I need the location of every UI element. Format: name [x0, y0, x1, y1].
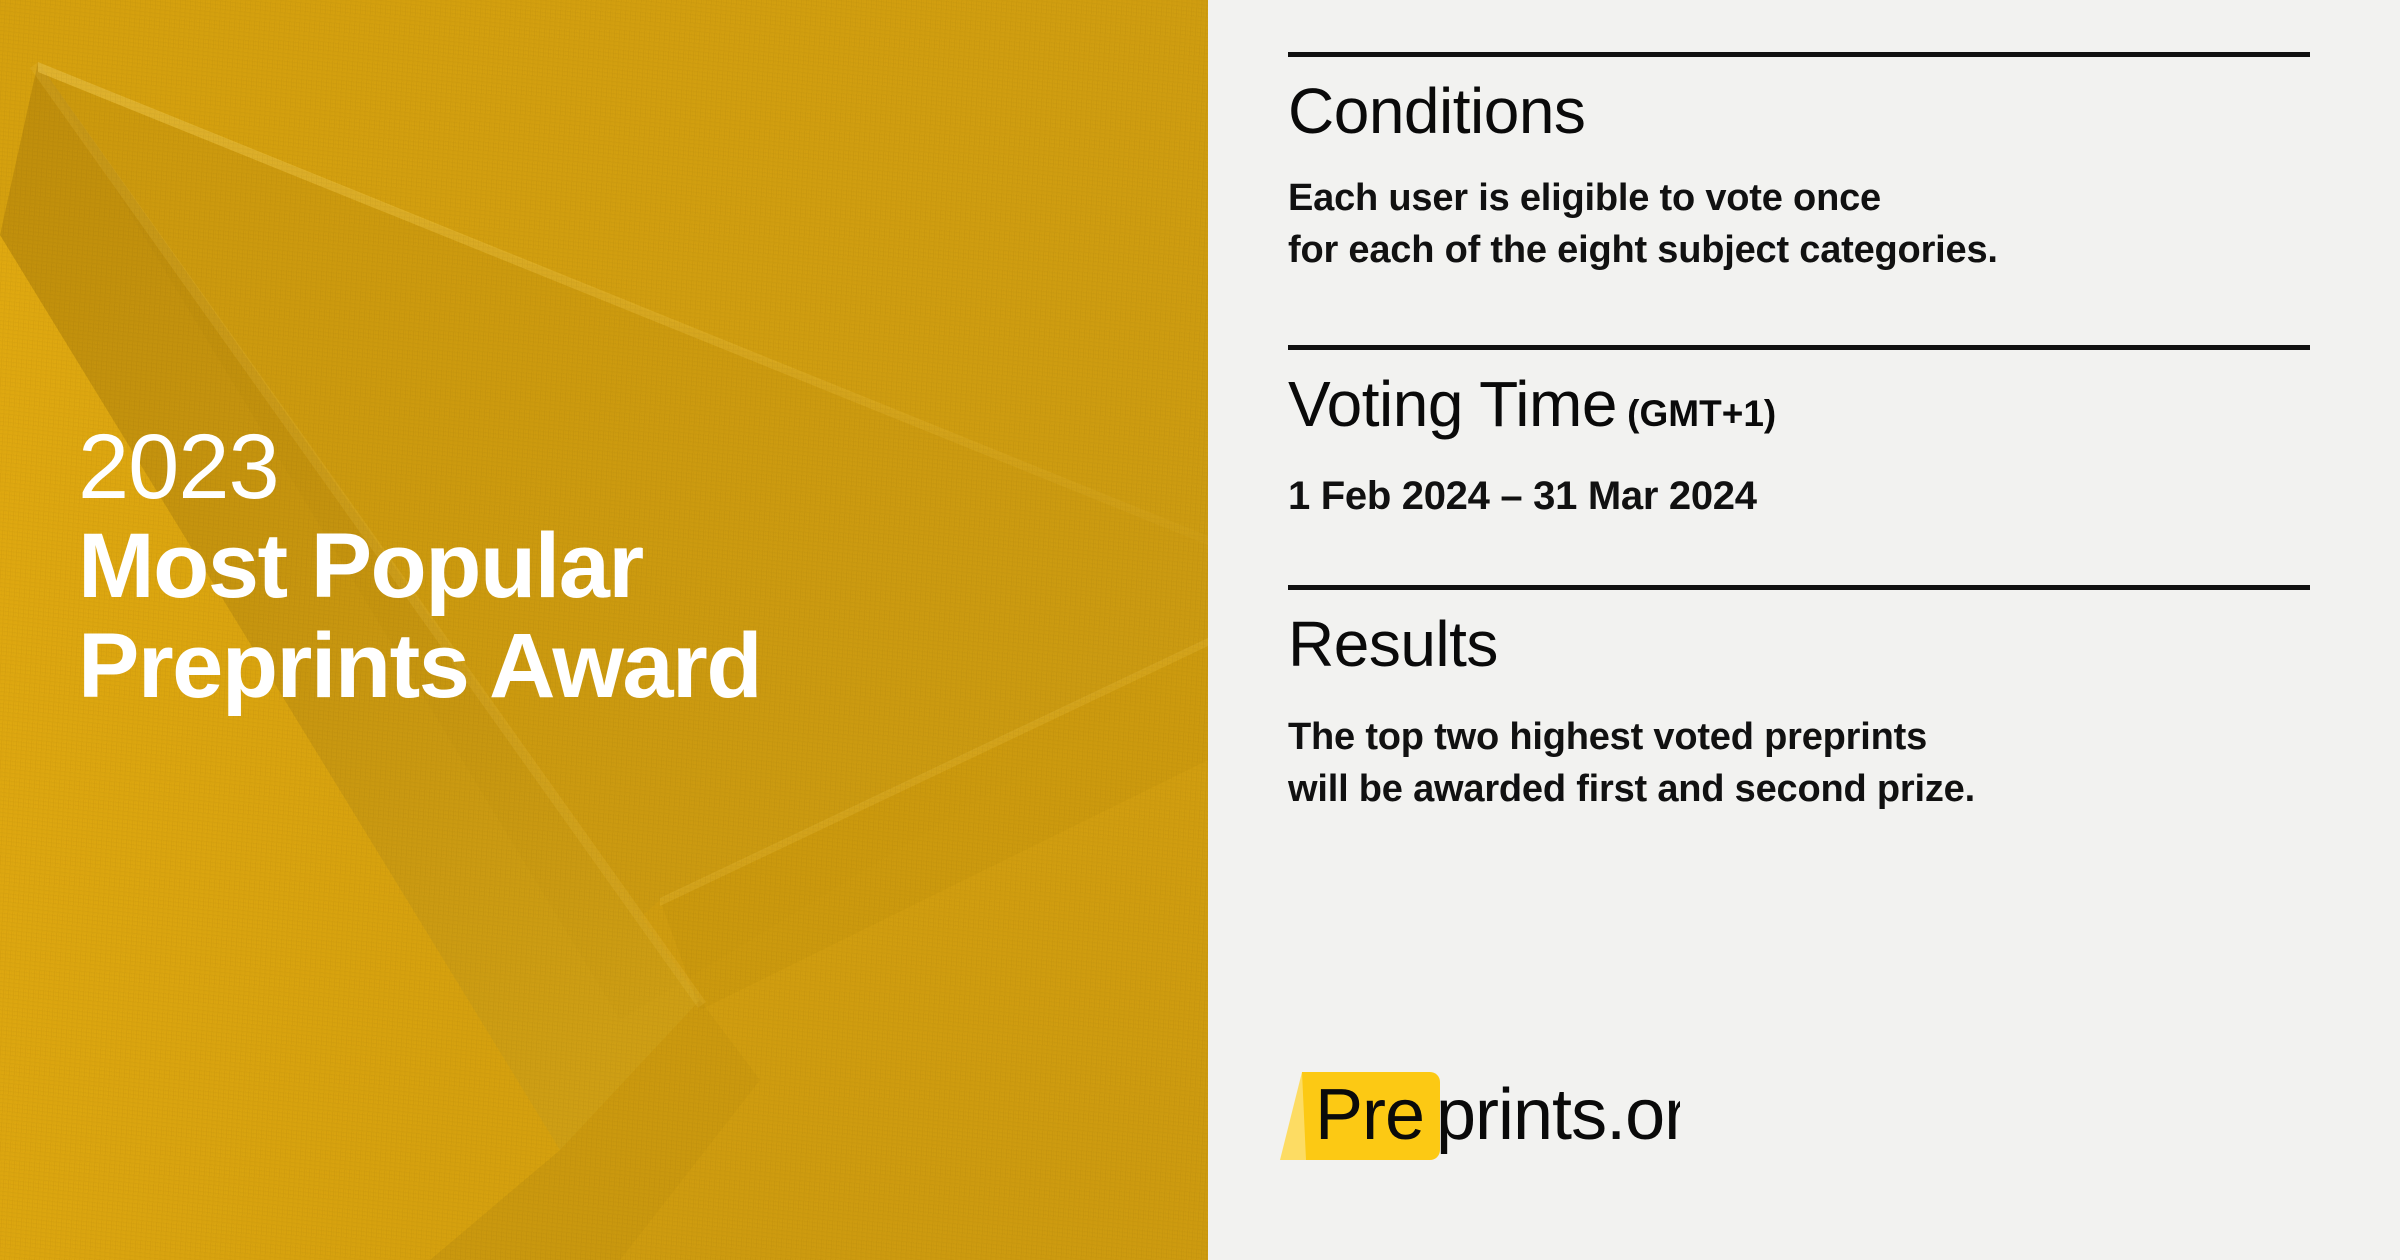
section-divider-voting-time — [1288, 345, 2310, 350]
voting-time-timezone: (GMT+1) — [1617, 393, 1776, 434]
results-body-line-1: The top two highest voted preprints — [1288, 712, 2310, 764]
logo-text-prints-org: prints.org — [1436, 1075, 1680, 1155]
hero-panel: 2023 Most Popular Preprints Award — [0, 0, 1208, 1260]
hero-title-line-2: Preprints Award — [78, 617, 761, 716]
hero-year: 2023 — [78, 418, 761, 517]
preprints-logo-mark: Pre prints.org — [1280, 1062, 1680, 1172]
info-panel: Conditions Each user is eligible to vote… — [1208, 0, 2400, 1260]
results-heading: Results — [1288, 612, 2310, 676]
logo-text-pre: Pre — [1315, 1075, 1424, 1155]
award-banner: 2023 Most Popular Preprints Award Condit… — [0, 0, 2400, 1260]
section-divider-results — [1288, 585, 2310, 590]
conditions-body: Each user is eligible to vote once for e… — [1288, 173, 2310, 276]
conditions-body-line-2: for each of the eight subject categories… — [1288, 225, 2310, 277]
voting-time-heading: Voting Time (GMT+1) — [1288, 372, 2310, 436]
voting-time-heading-label: Voting Time — [1288, 368, 1617, 440]
hero-title: 2023 Most Popular Preprints Award — [78, 418, 761, 716]
section-conditions: Conditions Each user is eligible to vote… — [1288, 52, 2310, 276]
section-results: Results The top two highest voted prepri… — [1288, 585, 2310, 815]
preprints-logo[interactable]: Pre prints.org — [1280, 1062, 1680, 1172]
hero-title-line-1: Most Popular — [78, 517, 761, 616]
section-divider-conditions — [1288, 52, 2310, 57]
section-voting-time: Voting Time (GMT+1) 1 Feb 2024 – 31 Mar … — [1288, 345, 2310, 519]
conditions-body-line-1: Each user is eligible to vote once — [1288, 173, 2310, 225]
results-body: The top two highest voted preprints will… — [1288, 712, 2310, 815]
voting-date-range: 1 Feb 2024 – 31 Mar 2024 — [1288, 474, 2310, 519]
conditions-heading: Conditions — [1288, 79, 2310, 143]
results-body-line-2: will be awarded first and second prize. — [1288, 764, 2310, 816]
